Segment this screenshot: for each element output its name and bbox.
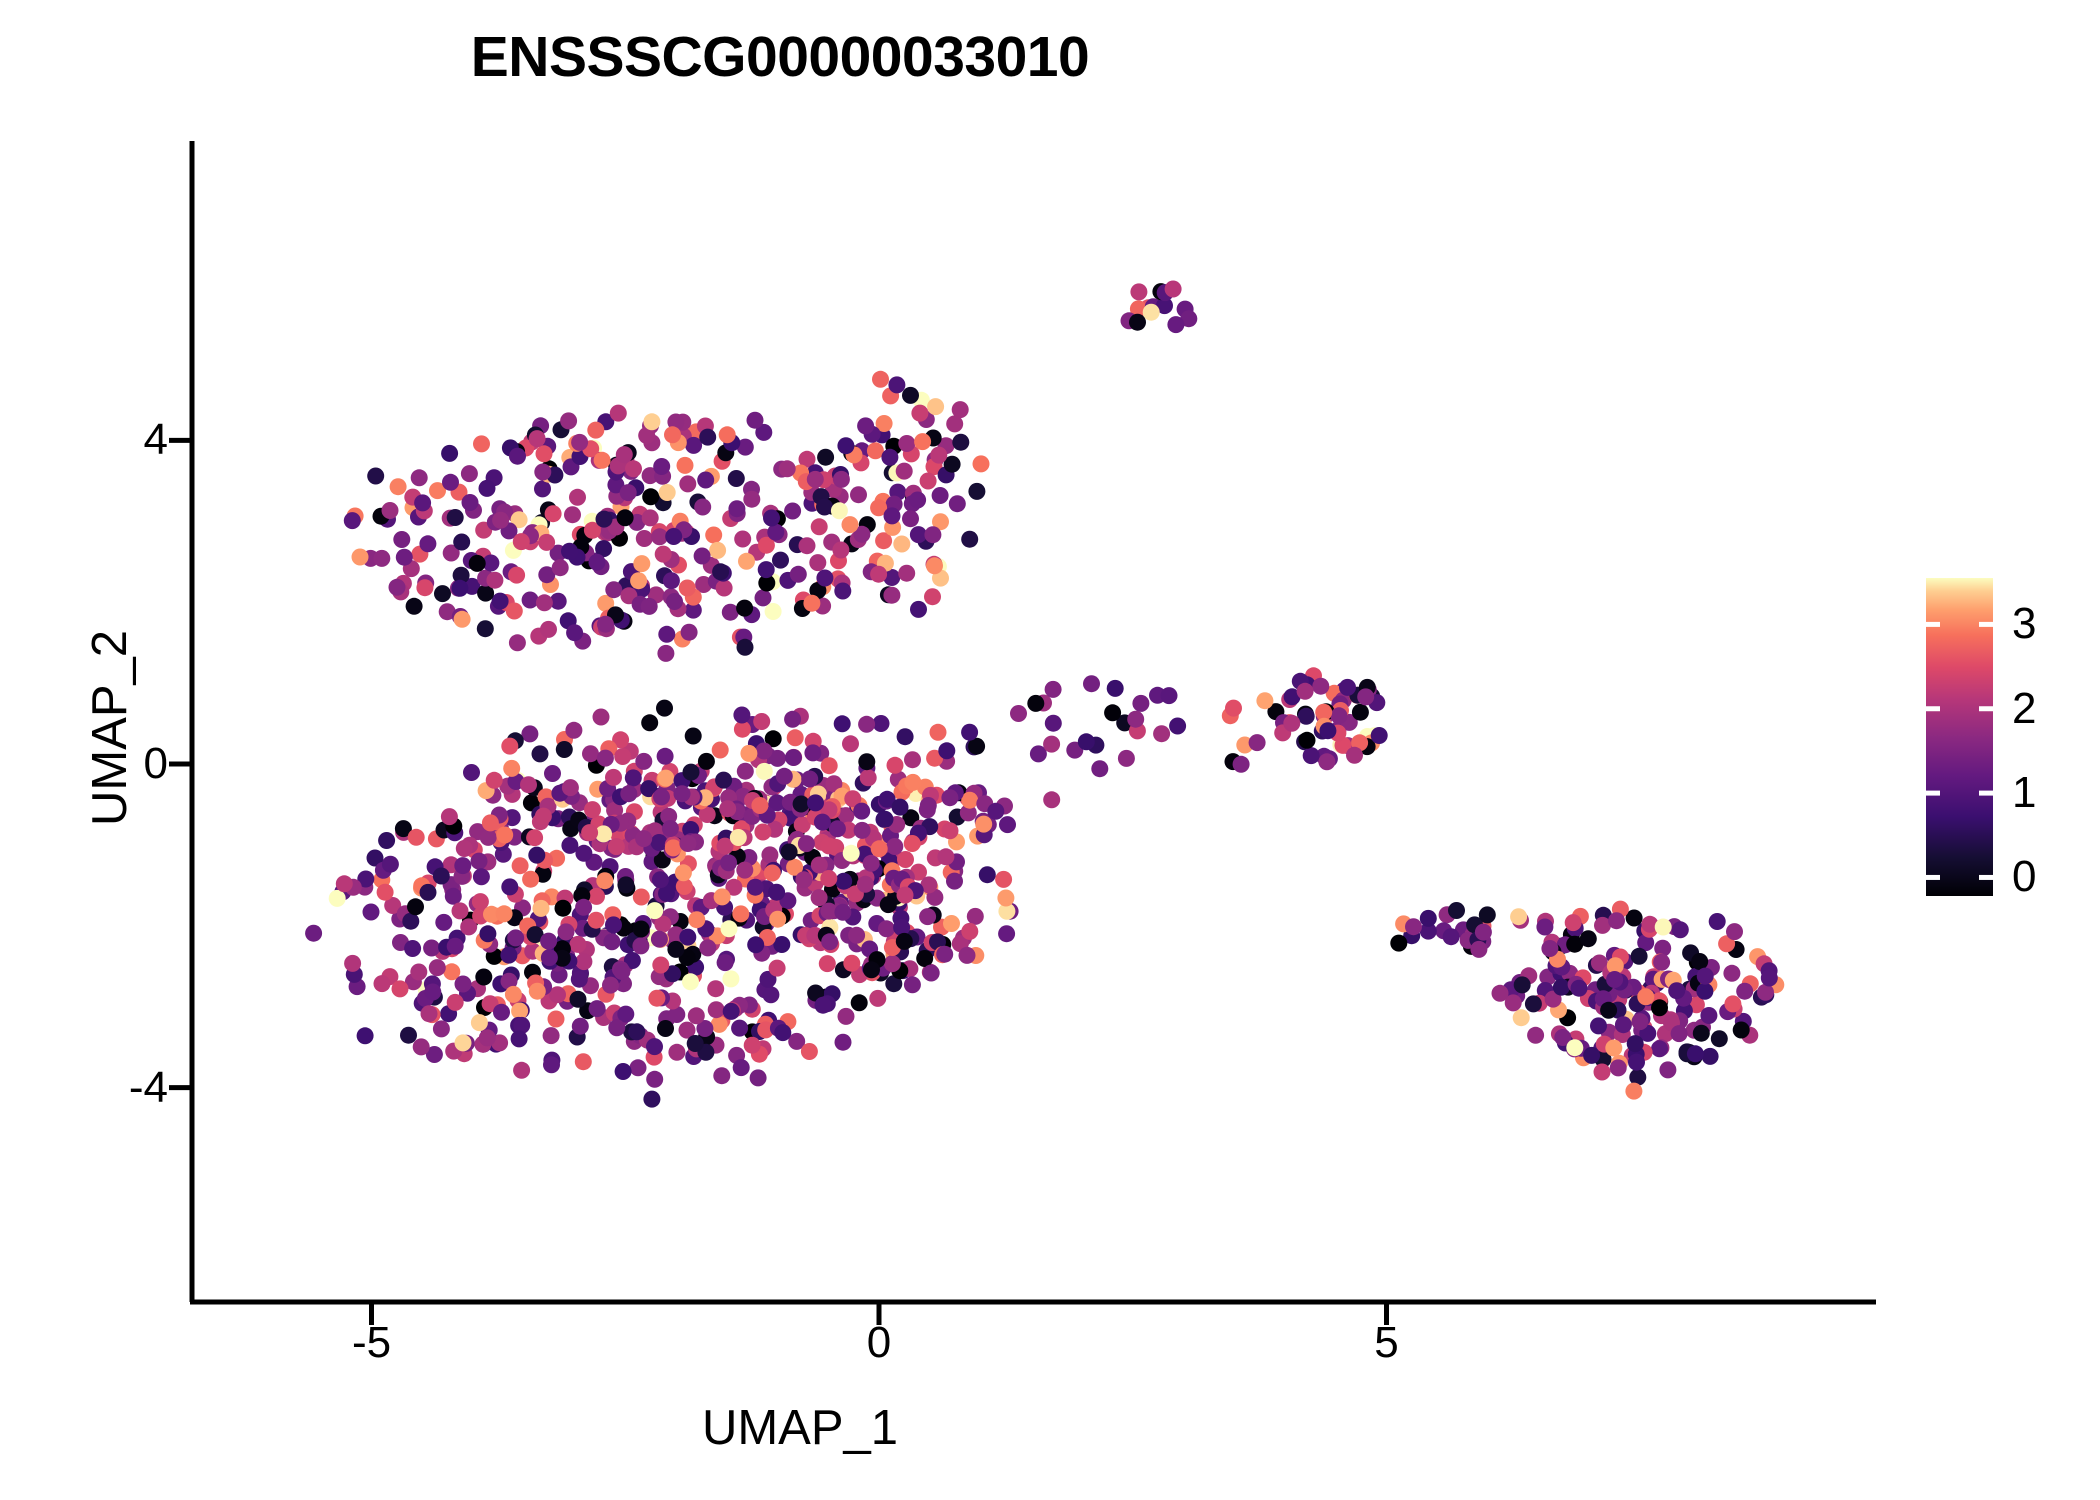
- scatter-point: [897, 851, 914, 868]
- scatter-point: [1091, 760, 1108, 777]
- scatter-point: [575, 899, 592, 916]
- scatter-point: [717, 954, 734, 971]
- scatter-point: [896, 933, 913, 950]
- scatter-point: [920, 797, 937, 814]
- scatter-point: [697, 472, 714, 489]
- scatter-point: [736, 862, 753, 879]
- scatter-point: [952, 434, 969, 451]
- scatter-point: [853, 803, 870, 820]
- scatter-point: [756, 763, 773, 780]
- scatter-point: [513, 1062, 530, 1079]
- scatter-point: [694, 499, 711, 516]
- scatter-point: [712, 563, 729, 580]
- scatter-point: [721, 920, 738, 937]
- scatter-point: [1580, 930, 1597, 947]
- scatter-point: [834, 583, 851, 600]
- scatter-point: [529, 983, 546, 1000]
- scatter-point: [779, 460, 796, 477]
- scatter-point: [816, 499, 833, 516]
- scatter-point: [924, 588, 941, 605]
- scatter-point: [1027, 695, 1044, 712]
- scatter-point: [892, 799, 909, 816]
- scatter-point: [681, 624, 698, 641]
- scatter-point: [998, 925, 1015, 942]
- scatter-point: [687, 1035, 704, 1052]
- scatter-point: [1010, 705, 1027, 722]
- scatter-point: [657, 645, 674, 662]
- scatter-point: [538, 534, 555, 551]
- scatter-point: [1583, 1047, 1600, 1064]
- scatter-point: [737, 639, 754, 656]
- scatter-point: [804, 744, 821, 761]
- scatter-point: [363, 904, 380, 921]
- scatter-point: [658, 626, 675, 643]
- scatter-point: [738, 553, 755, 570]
- scatter-point: [880, 896, 897, 913]
- scatter-point: [635, 753, 652, 770]
- scatter-point: [679, 580, 696, 597]
- scatter-point: [657, 1020, 674, 1037]
- scatter-point: [534, 480, 551, 497]
- scatter-point: [1733, 1022, 1750, 1039]
- scatter-point: [776, 768, 793, 785]
- scatter-point: [688, 911, 705, 928]
- scatter-point: [587, 422, 604, 439]
- scatter-point: [522, 871, 539, 888]
- scatter-point: [344, 955, 361, 972]
- scatter-point: [910, 526, 927, 543]
- scatter-point: [761, 846, 778, 863]
- scatter-point: [832, 542, 849, 559]
- y-tick-label: 0: [144, 739, 168, 789]
- scatter-point: [456, 840, 473, 857]
- scatter-point: [763, 510, 780, 527]
- scatter-point: [447, 994, 464, 1011]
- scatter-point: [872, 371, 889, 388]
- scatter-point: [620, 785, 637, 802]
- scatter-point: [633, 555, 650, 572]
- scatter-point: [452, 902, 469, 919]
- scatter-point: [675, 864, 692, 881]
- scatter-point: [1249, 734, 1266, 751]
- scatter-point: [569, 936, 586, 953]
- scatter-point: [562, 779, 579, 796]
- scatter-point: [728, 500, 745, 517]
- scatter-point: [435, 914, 452, 931]
- scatter-point: [820, 837, 837, 854]
- scatter-point: [570, 991, 587, 1008]
- scatter-point: [860, 769, 877, 786]
- scatter-point: [533, 900, 550, 917]
- scatter-point: [688, 1007, 705, 1024]
- scatter-point: [472, 893, 489, 910]
- scatter-point: [1104, 704, 1121, 721]
- scatter-point: [1132, 695, 1149, 712]
- scatter-point: [1339, 679, 1356, 696]
- scatter-point: [747, 412, 764, 429]
- scatter-point: [1492, 985, 1509, 1002]
- scatter-point: [659, 484, 676, 501]
- scatter-point: [1319, 722, 1336, 739]
- scatter-point: [709, 542, 726, 559]
- scatter-point: [904, 751, 921, 768]
- scatter-point: [811, 518, 828, 535]
- scatter-point: [665, 528, 682, 545]
- scatter-point: [737, 763, 754, 780]
- scatter-point: [581, 824, 598, 841]
- scatter-point: [643, 1091, 660, 1108]
- scatter-point: [755, 589, 772, 606]
- scatter-point: [758, 561, 775, 578]
- scatter-point: [575, 1053, 592, 1070]
- scatter-point: [352, 549, 369, 566]
- scatter-point: [1651, 999, 1668, 1016]
- scatter-point: [1475, 924, 1492, 941]
- scatter-point: [1299, 732, 1316, 749]
- scatter-point: [392, 980, 409, 997]
- scatter-point: [773, 936, 790, 953]
- scatter-point: [1697, 968, 1714, 985]
- scatter-point: [707, 980, 724, 997]
- scatter-point: [798, 835, 815, 852]
- scatter-point: [377, 884, 394, 901]
- scatter-point: [633, 889, 650, 906]
- scatter-point: [1736, 983, 1753, 1000]
- y-axis-ticks: [169, 440, 192, 1087]
- scatter-point: [705, 527, 722, 544]
- scatter-point: [916, 950, 933, 967]
- scatter-point: [493, 1004, 510, 1021]
- scatter-point: [652, 957, 669, 974]
- scatter-point: [471, 1014, 488, 1031]
- scatter-point: [698, 753, 715, 770]
- scatter-point: [904, 976, 921, 993]
- scatter-point: [807, 471, 824, 488]
- scatter-point: [404, 940, 421, 957]
- scatter-points-layer: [305, 281, 1784, 1108]
- scatter-point: [1527, 1027, 1544, 1044]
- scatter-point: [521, 725, 538, 742]
- scatter-point: [1169, 718, 1186, 735]
- scatter-point: [596, 872, 613, 889]
- scatter-point: [503, 760, 520, 777]
- scatter-point: [390, 478, 407, 495]
- scatter-point: [535, 808, 552, 825]
- scatter-point: [408, 829, 425, 846]
- scatter-point: [733, 1059, 750, 1076]
- scatter-point: [878, 920, 895, 937]
- scatter-point: [556, 741, 573, 758]
- scatter-point: [630, 1059, 647, 1076]
- scatter-point: [784, 711, 801, 728]
- scatter-point: [884, 507, 901, 524]
- scatter-point: [1318, 753, 1335, 770]
- scatter-point: [646, 1071, 663, 1088]
- scatter-point: [768, 884, 785, 901]
- scatter-point: [781, 844, 798, 861]
- scatter-point: [801, 771, 818, 788]
- scatter-point: [1590, 1017, 1607, 1034]
- scatter-point: [733, 707, 750, 724]
- scatter-point: [1352, 704, 1369, 721]
- scatter-point: [708, 1001, 725, 1018]
- scatter-point: [1143, 304, 1160, 321]
- scatter-point: [979, 866, 996, 883]
- scatter-point: [837, 437, 854, 454]
- scatter-point: [657, 748, 674, 765]
- scatter-point: [433, 868, 450, 885]
- scatter-point: [589, 1000, 606, 1017]
- scatter-point: [357, 1027, 374, 1044]
- scatter-point: [410, 964, 427, 981]
- scatter-point: [541, 949, 558, 966]
- scatter-point: [584, 801, 601, 818]
- scatter-point: [967, 908, 984, 925]
- scatter-point: [699, 429, 716, 446]
- scatter-point: [667, 941, 684, 958]
- scatter-point: [509, 448, 526, 465]
- scatter-point: [1625, 1083, 1642, 1100]
- scatter-point: [1724, 995, 1741, 1012]
- scatter-point: [1225, 700, 1242, 717]
- scatter-point: [898, 435, 915, 452]
- scatter-point: [505, 986, 522, 1003]
- scatter-point: [1045, 681, 1062, 698]
- scatter-point: [765, 603, 782, 620]
- scatter-point: [421, 1005, 438, 1022]
- scatter-point: [1711, 1030, 1728, 1047]
- scatter-point: [720, 854, 737, 871]
- scatter-point: [1553, 979, 1570, 996]
- scatter-point: [1594, 1064, 1611, 1081]
- scatter-point: [305, 925, 322, 942]
- scatter-point: [930, 724, 947, 741]
- scatter-point: [740, 745, 757, 762]
- scatter-point: [1525, 995, 1542, 1012]
- scatter-point: [1726, 923, 1743, 940]
- scatter-point: [809, 554, 826, 571]
- scatter-point: [529, 430, 546, 447]
- scatter-point: [506, 603, 523, 620]
- scatter-point: [454, 611, 471, 628]
- scatter-point: [850, 486, 867, 503]
- scatter-point: [902, 387, 919, 404]
- scatter-point: [1702, 1048, 1719, 1065]
- scatter-point: [736, 600, 753, 617]
- scatter-point: [455, 976, 472, 993]
- scatter-point: [507, 929, 524, 946]
- scatter-point: [407, 898, 424, 915]
- scatter-point: [605, 769, 622, 786]
- scatter-point: [1600, 1002, 1617, 1019]
- scatter-point: [589, 554, 606, 571]
- scatter-point: [893, 536, 910, 553]
- scatter-point: [1107, 680, 1124, 697]
- scatter-point: [1405, 918, 1422, 935]
- scatter-point: [382, 502, 399, 519]
- scatter-point: [723, 1003, 740, 1020]
- scatter-point: [1078, 733, 1095, 750]
- scatter-point: [1757, 984, 1774, 1001]
- scatter-point: [536, 445, 553, 462]
- scatter-point: [857, 417, 874, 434]
- scatter-point: [877, 811, 894, 828]
- scatter-point: [881, 449, 898, 466]
- colorbar-tick-label: 1: [2012, 768, 2036, 818]
- scatter-point: [565, 722, 582, 739]
- scatter-point: [492, 593, 509, 610]
- scatter-point: [423, 940, 440, 957]
- scatter-point: [679, 475, 696, 492]
- scatter-point: [785, 749, 802, 766]
- scatter-point: [545, 505, 562, 522]
- scatter-point: [508, 567, 525, 584]
- scatter-point: [463, 764, 480, 781]
- scatter-point: [858, 753, 875, 770]
- scatter-point: [646, 902, 663, 919]
- scatter-point: [897, 728, 914, 745]
- x-tick-label: 5: [1374, 1318, 1398, 1368]
- y-tick-label: 4: [144, 415, 168, 465]
- scatter-point: [751, 797, 768, 814]
- scatter-point: [734, 531, 751, 548]
- scatter-point: [511, 1030, 528, 1047]
- scatter-point: [870, 566, 887, 583]
- scatter-point: [429, 959, 446, 976]
- scatter-point: [411, 469, 428, 486]
- scatter-point: [454, 857, 471, 874]
- scatter-point: [419, 535, 436, 552]
- scatter-point: [863, 855, 880, 872]
- scatter-point: [831, 502, 848, 519]
- scatter-point: [655, 546, 672, 563]
- scatter-point: [747, 936, 764, 953]
- scatter-point: [1571, 980, 1588, 997]
- scatter-point: [715, 772, 732, 789]
- scatter-point: [1723, 965, 1740, 982]
- scatter-point: [685, 728, 702, 745]
- scatter-point: [555, 900, 572, 917]
- scatter-point: [1687, 1045, 1704, 1062]
- scatter-point: [886, 838, 903, 855]
- scatter-point: [769, 911, 786, 928]
- scatter-point: [747, 879, 764, 896]
- scatter-point: [572, 1018, 589, 1035]
- scatter-point: [730, 829, 747, 846]
- scatter-point: [887, 757, 904, 774]
- scatter-point: [635, 830, 652, 847]
- scatter-point: [540, 621, 557, 638]
- scatter-point: [512, 857, 529, 874]
- scatter-point: [835, 1034, 852, 1051]
- scatter-point: [1691, 953, 1708, 970]
- scatter-point: [1696, 983, 1713, 1000]
- scatter-point: [1443, 928, 1460, 945]
- scatter-point: [651, 931, 668, 948]
- scatter-point: [1610, 1059, 1627, 1076]
- scatter-point: [936, 946, 953, 963]
- scatter-point: [413, 1038, 430, 1055]
- scatter-point: [843, 845, 860, 862]
- scatter-point: [924, 526, 941, 543]
- scatter-point: [920, 473, 937, 490]
- scatter-point: [851, 994, 868, 1011]
- scatter-point: [543, 1027, 560, 1044]
- scatter-point: [596, 511, 613, 528]
- scatter-point: [902, 510, 919, 527]
- scatter-point: [719, 426, 736, 443]
- scatter-point: [509, 634, 526, 651]
- scatter-point: [932, 487, 949, 504]
- scatter-point: [750, 1069, 767, 1086]
- scatter-point: [646, 1038, 663, 1055]
- scatter-point: [393, 531, 410, 548]
- scatter-point: [665, 839, 682, 856]
- scatter-point: [642, 488, 659, 505]
- scatter-point: [1371, 727, 1388, 744]
- scatter-point: [799, 537, 816, 554]
- scatter-point: [492, 512, 509, 529]
- scatter-point: [1167, 316, 1184, 333]
- scatter-point: [910, 601, 927, 618]
- scatter-point: [447, 938, 464, 955]
- scatter-point: [848, 927, 865, 944]
- scatter-point: [534, 464, 551, 481]
- scatter-point: [679, 929, 696, 946]
- scatter-point: [863, 961, 880, 978]
- scatter-point: [959, 947, 976, 964]
- scatter-point: [614, 963, 631, 980]
- scatter-point: [1283, 715, 1300, 732]
- scatter-point: [814, 814, 831, 831]
- scatter-point: [790, 566, 807, 583]
- scatter-point: [367, 468, 384, 485]
- scatter-point: [1130, 283, 1147, 300]
- scatter-point: [968, 483, 985, 500]
- scatter-point: [543, 1056, 560, 1073]
- scatter-point: [694, 548, 711, 565]
- scatter-point: [784, 503, 801, 520]
- scatter-point: [941, 789, 958, 806]
- scatter-point: [656, 700, 673, 717]
- scatter-point: [1129, 314, 1146, 331]
- scatter-point: [756, 743, 773, 760]
- scatter-point: [455, 1034, 472, 1051]
- scatter-point: [473, 435, 490, 452]
- scatter-point: [374, 975, 391, 992]
- scatter-point: [336, 875, 353, 892]
- scatter-point: [433, 1020, 450, 1037]
- scatter-point: [520, 776, 537, 793]
- scatter-point: [396, 549, 413, 566]
- scatter-point: [526, 829, 543, 846]
- scatter-point: [473, 868, 490, 885]
- scatter-point: [975, 816, 992, 833]
- scatter-point: [1331, 707, 1348, 724]
- plot-panel: [0, 0, 2100, 1500]
- scatter-point: [884, 955, 901, 972]
- scatter-point: [400, 1027, 417, 1044]
- scatter-point: [540, 933, 557, 950]
- scatter-point: [500, 947, 517, 964]
- scatter-point: [617, 509, 634, 526]
- scatter-point: [1608, 912, 1625, 929]
- scatter-point: [648, 990, 665, 1007]
- scatter-point: [904, 835, 921, 852]
- scatter-point: [544, 765, 561, 782]
- scatter-point: [566, 624, 583, 641]
- scatter-point: [732, 905, 749, 922]
